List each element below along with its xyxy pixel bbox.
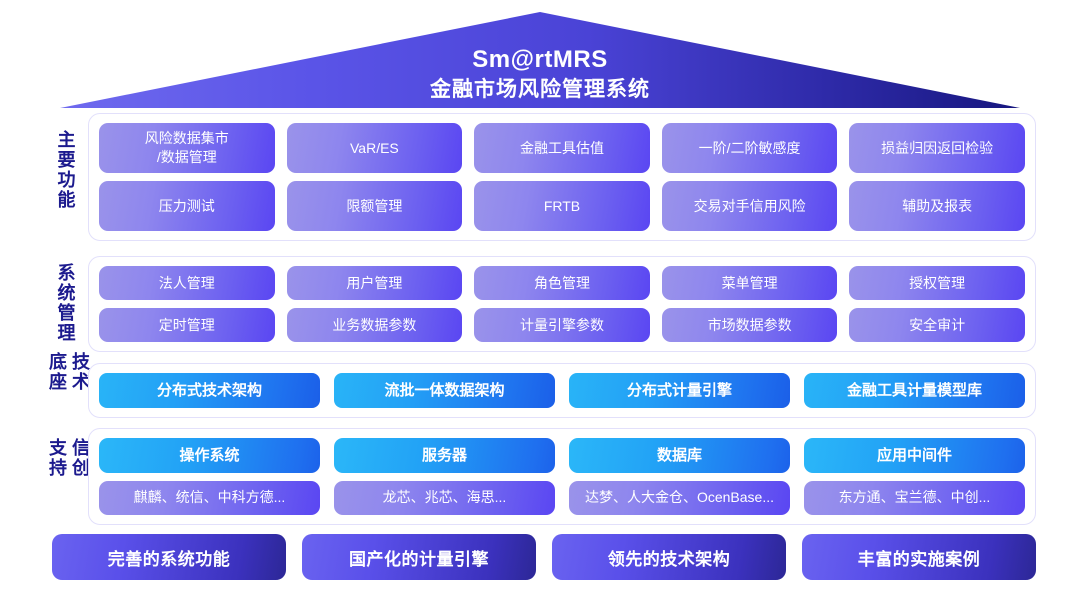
card-risk-data-mart[interactable]: 风险数据集市 /数据管理 — [99, 123, 275, 173]
card-row: 压力测试 限额管理 FRTB 交易对手信用风险 辅助及报表 — [99, 181, 1025, 231]
bottom-highlight-bar: 完善的系统功能 国产化的计量引擎 领先的技术架构 丰富的实施案例 — [52, 534, 1036, 580]
card-menu-management[interactable]: 菜单管理 — [662, 266, 838, 300]
card-os-vendors[interactable]: 麒麟、统信、中科方德... — [99, 481, 320, 516]
card-application-middleware[interactable]: 应用中间件 — [804, 438, 1025, 473]
card-database[interactable]: 数据库 — [569, 438, 790, 473]
card-limit-management[interactable]: 限额管理 — [287, 181, 463, 231]
panel-system-management: 法人管理 用户管理 角色管理 菜单管理 授权管理 定时管理 业务数据参数 计量引… — [88, 256, 1036, 352]
card-auxiliary-reports[interactable]: 辅助及报表 — [849, 181, 1025, 231]
card-authorization-management[interactable]: 授权管理 — [849, 266, 1025, 300]
card-distributed-tech-architecture[interactable]: 分布式技术架构 — [99, 373, 320, 408]
panel-tech-base: 分布式技术架构 流批一体数据架构 分布式计量引擎 金融工具计量模型库 — [88, 363, 1036, 418]
panel-main-functions: 风险数据集市 /数据管理 VaR/ES 金融工具估值 一阶/二阶敏感度 损益归因… — [88, 113, 1036, 241]
card-row: 定时管理 业务数据参数 计量引擎参数 市场数据参数 安全审计 — [99, 308, 1025, 342]
card-pnl-attribution-backtest[interactable]: 损益归因返回检验 — [849, 123, 1025, 173]
card-row: 法人管理 用户管理 角色管理 菜单管理 授权管理 — [99, 266, 1025, 300]
highlight-rich-implementation-cases[interactable]: 丰富的实施案例 — [802, 534, 1036, 580]
card-security-audit[interactable]: 安全审计 — [849, 308, 1025, 342]
card-server[interactable]: 服务器 — [334, 438, 555, 473]
card-distributed-measurement-engine[interactable]: 分布式计量引擎 — [569, 373, 790, 408]
card-schedule-management[interactable]: 定时管理 — [99, 308, 275, 342]
card-role-management[interactable]: 角色管理 — [474, 266, 650, 300]
card-business-data-params[interactable]: 业务数据参数 — [287, 308, 463, 342]
section-label-main-functions: 主要功能 — [52, 130, 82, 210]
card-row: 麒麟、统信、中科方德... 龙芯、兆芯、海思... 达梦、人大金仓、OcenBa… — [99, 481, 1025, 516]
section-label-system-management: 系统管理 — [52, 263, 82, 343]
card-stress-test[interactable]: 压力测试 — [99, 181, 275, 231]
card-user-management[interactable]: 用户管理 — [287, 266, 463, 300]
roof-banner: Sm@rtMRS 金融市场风险管理系统 — [0, 12, 1080, 110]
card-middleware-vendors[interactable]: 东方通、宝兰德、中创... — [804, 481, 1025, 516]
card-instrument-valuation[interactable]: 金融工具估值 — [474, 123, 650, 173]
card-instrument-model-library[interactable]: 金融工具计量模型库 — [804, 373, 1025, 408]
card-measurement-engine-params[interactable]: 计量引擎参数 — [474, 308, 650, 342]
highlight-domestic-measurement-engine[interactable]: 国产化的计量引擎 — [302, 534, 536, 580]
card-row: 操作系统 服务器 数据库 应用中间件 — [99, 438, 1025, 473]
card-var-es[interactable]: VaR/ES — [287, 123, 463, 173]
card-server-vendors[interactable]: 龙芯、兆芯、海思... — [334, 481, 555, 516]
card-sensitivity[interactable]: 一阶/二阶敏感度 — [662, 123, 838, 173]
roof-shape — [0, 12, 1080, 110]
architecture-diagram: Sm@rtMRS 金融市场风险管理系统 主要功能 系统管理 技术底座 信创支持 … — [0, 0, 1080, 604]
highlight-complete-system-functions[interactable]: 完善的系统功能 — [52, 534, 286, 580]
highlight-leading-tech-architecture[interactable]: 领先的技术架构 — [552, 534, 786, 580]
card-stream-batch-data-architecture[interactable]: 流批一体数据架构 — [334, 373, 555, 408]
card-operating-system[interactable]: 操作系统 — [99, 438, 320, 473]
card-legal-entity-management[interactable]: 法人管理 — [99, 266, 275, 300]
card-market-data-params[interactable]: 市场数据参数 — [662, 308, 838, 342]
card-counterparty-credit-risk[interactable]: 交易对手信用风险 — [662, 181, 838, 231]
card-row: 分布式技术架构 流批一体数据架构 分布式计量引擎 金融工具计量模型库 — [99, 373, 1025, 408]
panel-xinchuang-support: 操作系统 服务器 数据库 应用中间件 麒麟、统信、中科方德... 龙芯、兆芯、海… — [88, 428, 1036, 525]
card-database-vendors[interactable]: 达梦、人大金仓、OcenBase... — [569, 481, 790, 516]
card-row: 风险数据集市 /数据管理 VaR/ES 金融工具估值 一阶/二阶敏感度 损益归因… — [99, 123, 1025, 173]
card-frtb[interactable]: FRTB — [474, 181, 650, 231]
